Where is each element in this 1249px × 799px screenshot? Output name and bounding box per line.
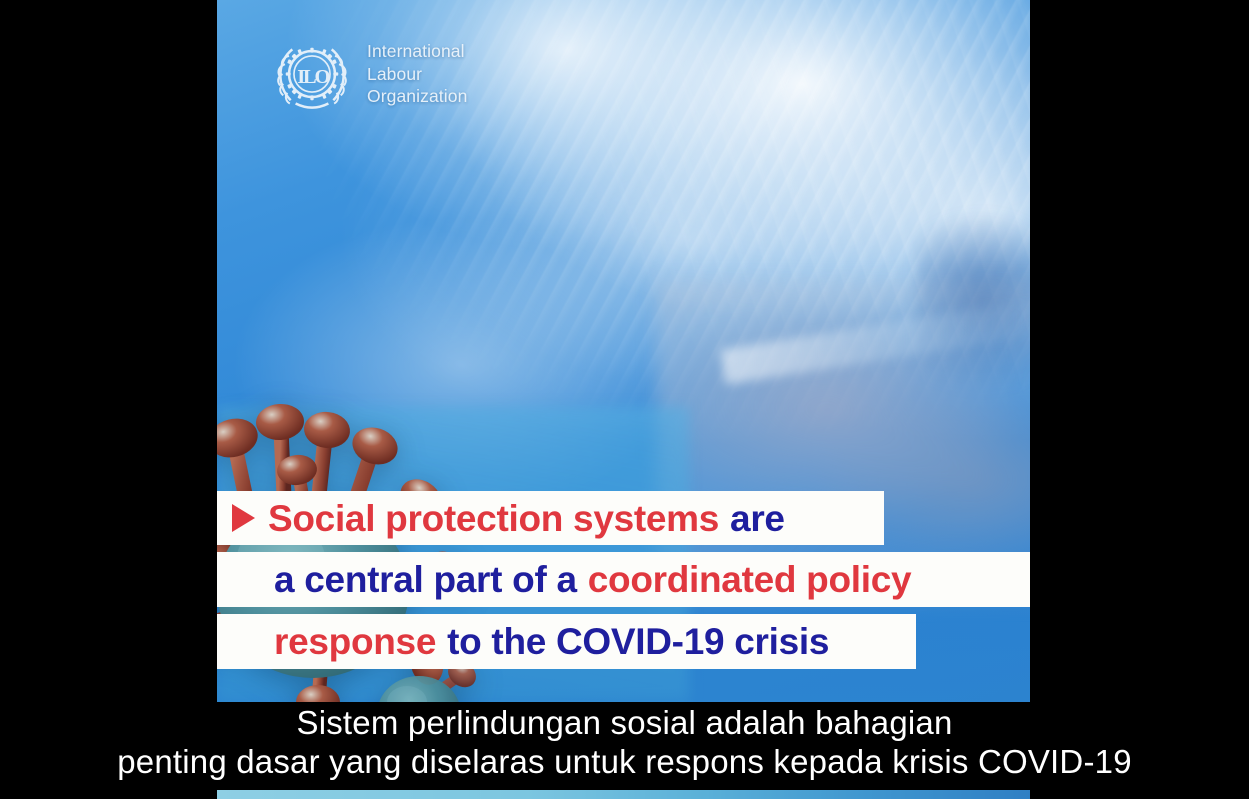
caption-line-2: a central part of a coordinated policy <box>217 552 1030 607</box>
org-line-2: Labour <box>367 63 467 86</box>
atmospheric-haze <box>217 519 1030 702</box>
ilo-logo: I L O International Labour Organization <box>271 33 467 115</box>
caption-line-1: Social protection systems are <box>217 491 884 545</box>
caption-line-1-segment-1: Social protection systems <box>268 500 719 537</box>
ilo-emblem-icon: I L O <box>271 33 353 115</box>
subtitle-line-2: penting dasar yang diselaras untuk respo… <box>117 743 1132 782</box>
ilo-wordmark: International Labour Organization <box>367 40 467 108</box>
caption-line-3: response to the COVID-19 crisis <box>217 614 916 669</box>
caption-line-3-segment-1: response <box>274 623 436 660</box>
caption-line-3-segment-2: to the COVID-19 crisis <box>447 623 829 660</box>
video-frame[interactable]: I L O International Labour Organization … <box>217 0 1030 702</box>
letterbox-right <box>1030 0 1249 799</box>
subtitle-overlay: Sistem perlindungan sosial adalah bahagi… <box>0 704 1249 784</box>
org-line-1: International <box>367 40 467 63</box>
caption-line-1-segment-2: are <box>730 500 785 537</box>
caption-line-2-segment-1: a central part of a <box>274 561 577 598</box>
play-triangle-icon <box>232 504 255 532</box>
next-frame-strip <box>217 790 1030 799</box>
caption-line-2-segment-2: coordinated policy <box>588 561 912 598</box>
video-player-stage: I L O International Labour Organization … <box>0 0 1249 799</box>
svg-text:O: O <box>314 66 330 88</box>
subtitle-line-1: Sistem perlindungan sosial adalah bahagi… <box>296 704 952 743</box>
org-line-3: Organization <box>367 85 467 108</box>
letterbox-left <box>0 0 217 799</box>
